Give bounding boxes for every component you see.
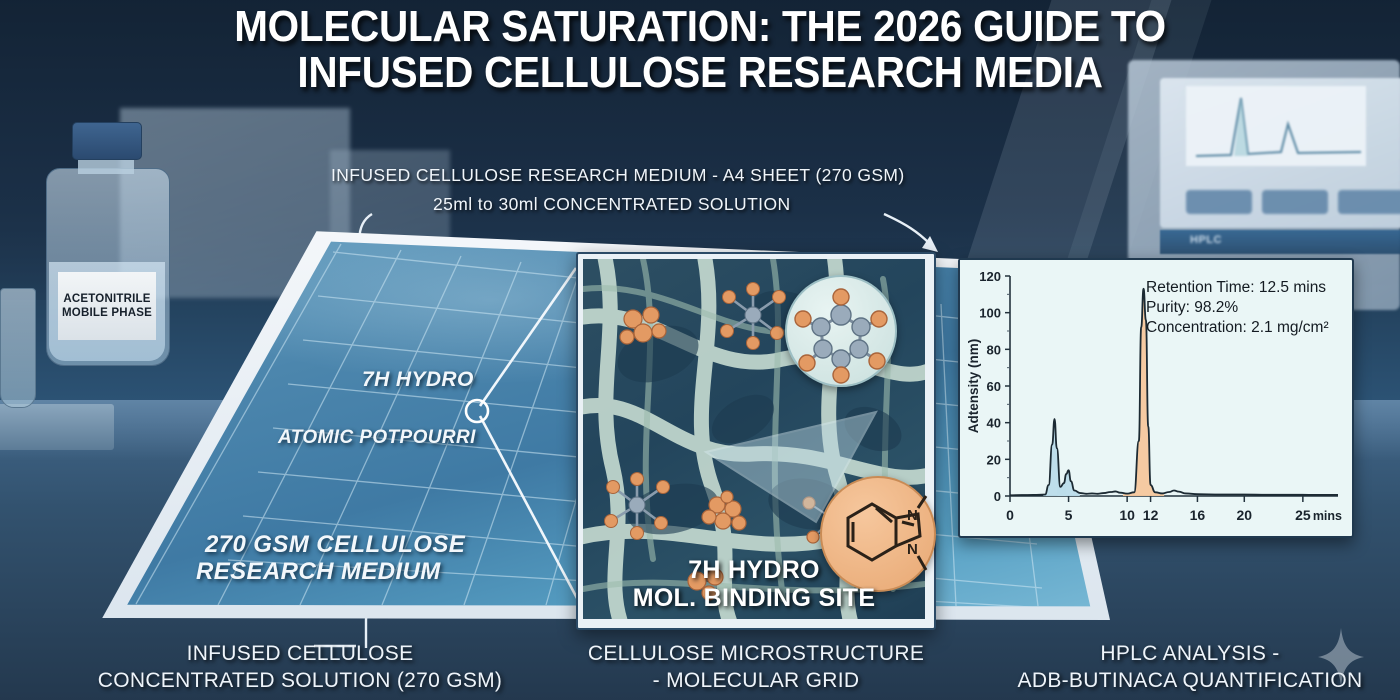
svg-text:20: 20 xyxy=(987,452,1001,467)
caption-left-line2: CONCENTRATED SOLUTION (270 GSM) xyxy=(60,667,540,694)
annotation-retention-time: Retention Time: 12.5 mins xyxy=(1146,278,1329,298)
svg-text:80: 80 xyxy=(987,342,1001,357)
svg-text:120: 120 xyxy=(979,269,1001,284)
caption-left-line1: INFUSED CELLULOSE xyxy=(60,640,540,667)
svg-text:100: 100 xyxy=(979,306,1001,321)
svg-text:12: 12 xyxy=(1143,507,1159,523)
annotation-purity: Purity: 98.2% xyxy=(1146,298,1329,318)
svg-text:5: 5 xyxy=(1065,507,1073,523)
svg-text:20: 20 xyxy=(1236,507,1252,523)
molecule-inset-circle xyxy=(785,275,897,387)
svg-text:25: 25 xyxy=(1295,507,1311,523)
annotation-concentration: Concentration: 2.1 mg/cm² xyxy=(1146,318,1329,338)
svg-text:0: 0 xyxy=(1006,507,1014,523)
svg-text:10: 10 xyxy=(1119,507,1135,523)
svg-text:mins: mins xyxy=(1313,509,1342,523)
svg-text:N: N xyxy=(907,507,918,524)
infographic-canvas: HPLC ACETONITRILE MOBILE PHASE MOLECULAR… xyxy=(0,0,1400,700)
caption-center: CELLULOSE MICROSTRUCTURE - MOLECULAR GRI… xyxy=(546,640,966,694)
inset-caption-line2: MOL. BINDING SITE xyxy=(576,584,932,613)
svg-text:16: 16 xyxy=(1190,507,1206,523)
sparkle-watermark-icon xyxy=(1318,628,1364,686)
caption-center-line1: CELLULOSE MICROSTRUCTURE xyxy=(546,640,966,667)
svg-text:Adtensity (nm): Adtensity (nm) xyxy=(966,339,981,434)
caption-left: INFUSED CELLULOSE CONCENTRATED SOLUTION … xyxy=(60,640,540,694)
svg-text:60: 60 xyxy=(987,379,1001,394)
svg-text:40: 40 xyxy=(987,416,1001,431)
inset-caption-line1: 7H HYDRO xyxy=(576,556,932,585)
svg-text:0: 0 xyxy=(994,489,1001,504)
caption-center-line2: - MOLECULAR GRID xyxy=(546,667,966,694)
chart-annotations: Retention Time: 12.5 mins Purity: 98.2% … xyxy=(1146,278,1329,338)
